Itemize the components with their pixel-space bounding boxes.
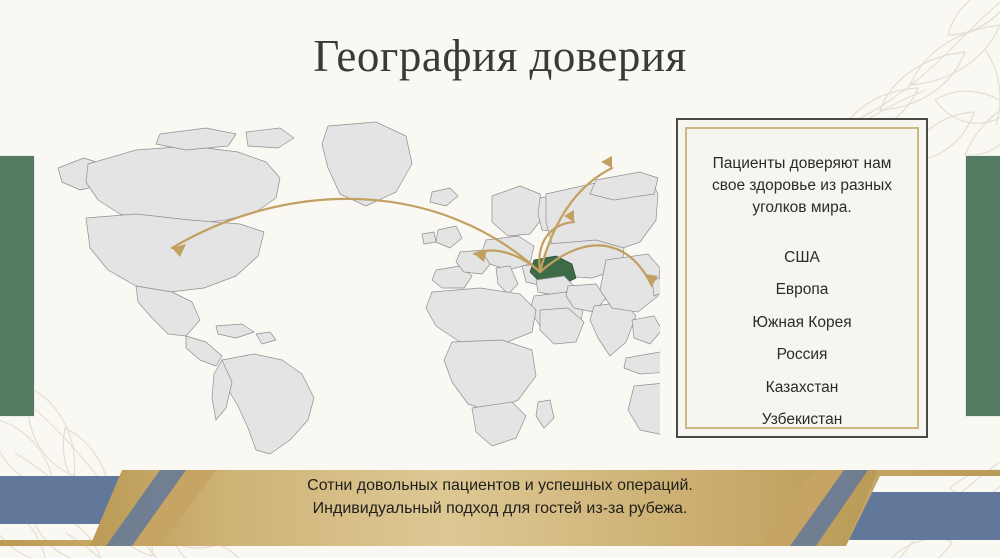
region-madagascar [536, 400, 554, 428]
page-title: География доверия [0, 32, 1000, 82]
region-southeast-asia [632, 316, 660, 344]
region-italy [496, 266, 518, 294]
slide-root: География доверия [0, 0, 1000, 558]
list-item: США [687, 241, 917, 274]
world-map [40, 120, 660, 460]
list-item: Южная Корея [687, 306, 917, 339]
country-list: США Европа Южная Корея Россия Казахстан … [687, 241, 917, 436]
list-item: Узбекистан [687, 404, 917, 437]
countries-panel: Пациенты доверяют нам свое здоровье из р… [676, 118, 928, 438]
countries-panel-inner: Пациенты доверяют нам свое здоровье из р… [685, 127, 919, 429]
region-ireland [422, 232, 436, 244]
region-iceland [430, 188, 458, 206]
region-arctic-islands-1 [156, 128, 236, 150]
region-central-america [186, 336, 222, 366]
region-south-america [218, 354, 314, 454]
banner-line-2: Индивидуальный подход для гостей из-за р… [0, 497, 1000, 520]
region-caribbean-1 [216, 324, 254, 338]
panel-intro-text: Пациенты доверяют нам свое здоровье из р… [695, 153, 909, 219]
region-caribbean-2 [256, 332, 276, 344]
region-greenland [322, 122, 412, 206]
region-scandinavia [492, 186, 544, 236]
banner-text: Сотни довольных пациентов и успешных опе… [0, 474, 1000, 520]
region-australia [628, 382, 660, 436]
side-accent-bar-right [965, 155, 1000, 417]
side-accent-bar-left [0, 155, 35, 417]
list-item: Россия [687, 339, 917, 372]
region-arctic-islands-2 [246, 128, 294, 148]
bottom-banner: Сотни довольных пациентов и успешных опе… [0, 458, 1000, 558]
region-north-africa [426, 288, 536, 344]
arrowhead-russia [601, 156, 612, 168]
region-africa-south [472, 402, 526, 446]
region-usa [86, 214, 264, 292]
region-africa-central [444, 340, 536, 412]
list-item: Казахстан [687, 371, 917, 404]
region-indonesia [624, 352, 660, 374]
banner-line-1: Сотни довольных пациентов и успешных опе… [0, 474, 1000, 497]
list-item: Европа [687, 274, 917, 307]
region-mexico [136, 286, 200, 336]
region-british-isles [436, 226, 462, 248]
